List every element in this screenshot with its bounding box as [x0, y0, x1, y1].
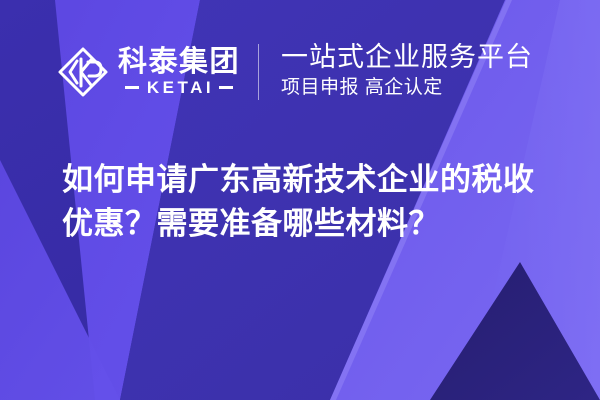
header-lockup: 科泰集团 KETAI 一站式企业服务平台 项目申报 高企认定	[57, 42, 533, 101]
vertical-divider-icon	[258, 44, 259, 100]
brand-name-english-row: KETAI	[118, 79, 240, 97]
brand-name-english: KETAI	[139, 79, 219, 97]
promo-banner: 科泰集团 KETAI 一站式企业服务平台 项目申报 高企认定 如何申请广东高新技…	[0, 0, 600, 400]
headline-line-2: 优惠？需要准备哪些材料？	[62, 202, 542, 246]
tagline-secondary: 项目申报 高企认定	[281, 75, 533, 101]
ketai-diamond-kp-monogram-icon	[57, 46, 109, 98]
brand-logo[interactable]: 科泰集团 KETAI	[57, 46, 240, 98]
headline-line-1: 如何申请广东高新技术企业的税收	[62, 158, 542, 202]
tagline-primary: 一站式企业服务平台	[281, 42, 533, 73]
brand-name-chinese: 科泰集团	[118, 47, 240, 78]
headline: 如何申请广东高新技术企业的税收 优惠？需要准备哪些材料？	[62, 158, 542, 246]
tagline-block: 一站式企业服务平台 项目申报 高企认定	[281, 42, 533, 101]
brand-wordmark: 科泰集团 KETAI	[118, 47, 240, 97]
banner-content: 科泰集团 KETAI 一站式企业服务平台 项目申报 高企认定 如何申请广东高新技…	[0, 0, 600, 400]
wordmark-dash-left-icon	[125, 86, 139, 89]
wordmark-dash-right-icon	[219, 86, 233, 89]
